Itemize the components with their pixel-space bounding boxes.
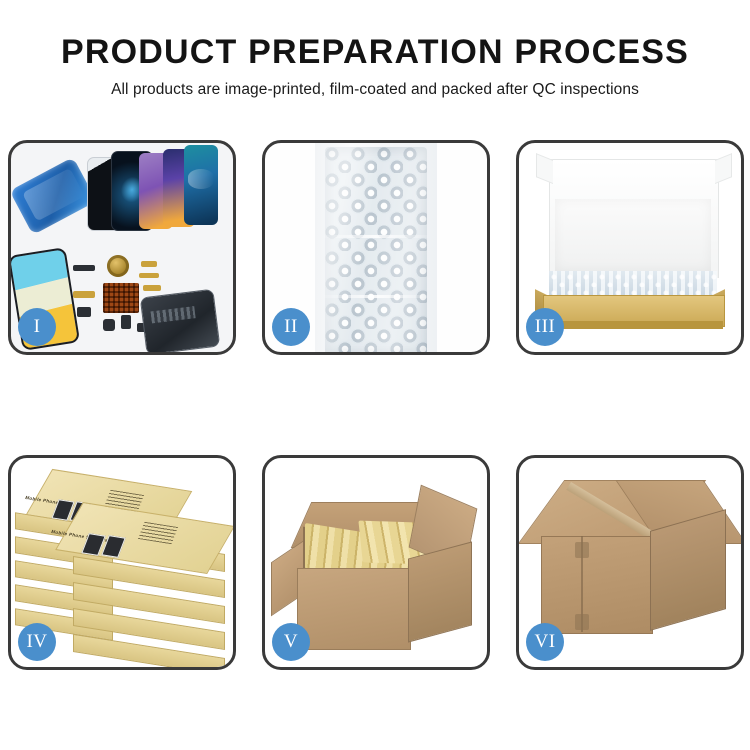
step-card-2-bubble-wrap: II — [262, 140, 490, 355]
copper-mesh-pad — [103, 283, 139, 313]
flex-cable-3 — [73, 291, 95, 298]
process-steps-grid: I II III — [8, 140, 742, 670]
page-title: PRODUCT PREPARATION PROCESS — [0, 34, 750, 71]
step-card-1-products: I — [8, 140, 236, 355]
carton-front-panel — [541, 536, 653, 634]
tray-front-edge — [543, 321, 723, 329]
blue-lcd-panel — [11, 157, 97, 235]
step-badge-2: II — [272, 308, 310, 346]
step-badge-3: III — [526, 308, 564, 346]
carton-side-panel — [650, 509, 726, 631]
small-part-2 — [103, 319, 115, 331]
step-badge-4: IV — [18, 623, 56, 661]
foam-sheet — [555, 199, 711, 271]
vibration-coil — [107, 255, 129, 277]
step-card-4-stacked-boxes: Mobile Phone Spare Parts Mobile Phone Sp… — [8, 455, 236, 670]
page-header: PRODUCT PREPARATION PROCESS All products… — [0, 0, 750, 99]
page-subtitle: All products are image-printed, film-coa… — [0, 81, 750, 99]
plastic-sheen — [325, 147, 427, 352]
teal-display-phone — [184, 145, 218, 225]
flex-cable-1 — [141, 261, 157, 267]
carton-handle-notch-top — [575, 542, 589, 558]
back-housing-board — [140, 289, 221, 352]
wrap-seam-top — [324, 235, 428, 238]
carton-front-face — [297, 568, 411, 650]
step-card-5-carton-filled: V — [262, 455, 490, 670]
small-part-3 — [121, 315, 131, 329]
step-card-3-inner-box: III — [516, 140, 744, 355]
carton-handle-notch-bottom — [575, 614, 589, 630]
wrap-seam-bottom — [324, 295, 428, 298]
step-card-6-carton-sealed: VI — [516, 455, 744, 670]
step-badge-1: I — [18, 308, 56, 346]
connector-chip — [73, 265, 95, 271]
step-badge-6: VI — [526, 623, 564, 661]
small-part-1 — [77, 307, 91, 317]
step-badge-5: V — [272, 623, 310, 661]
carton-side-face — [408, 541, 472, 642]
flex-cable-2 — [139, 273, 159, 278]
flex-cable-4 — [143, 285, 161, 291]
bubble-wrapped-contents — [549, 271, 717, 297]
